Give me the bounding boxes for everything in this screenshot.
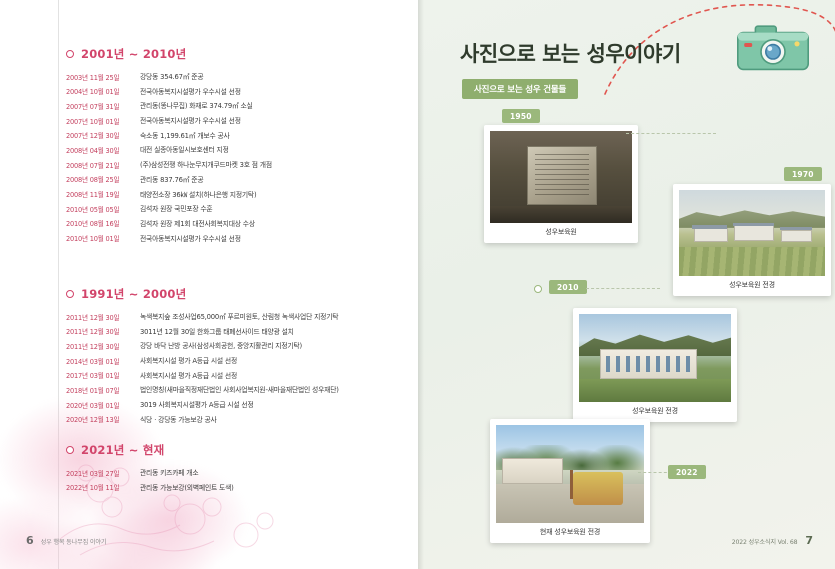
timeline-row: 2008년 11월 19일태양전소장 36㎾ 설치(하나은행 지정기탁) xyxy=(66,189,272,200)
timeline-rows: 2011년 12월 30일녹색복지숲 조성사업65,000㎡ 푸르미원토, 산림… xyxy=(66,311,339,424)
timeline-rows: 2021년 03월 27일관리동 키즈카페 개소 2022년 10월 11일관리… xyxy=(66,467,234,492)
row-date: 2008년 11월 19일 xyxy=(66,189,140,200)
photo-caption: 현재 성우보육원 전경 xyxy=(496,523,644,540)
row-date: 2017년 03월 01일 xyxy=(66,370,140,381)
row-date: 2003년 11월 25일 xyxy=(66,71,140,82)
timeline-row: 2007년 10월 01일전국아동복지시설평가 우수시설 선정 xyxy=(66,115,272,126)
row-date: 2004년 10월 01일 xyxy=(66,86,140,97)
connector-line xyxy=(586,288,660,289)
timeline-row: 2010년 05월 05일김석자 원장 국민포장 수훈 xyxy=(66,203,272,214)
row-text: 3019 사회복지시설평가 A등급 시설 선정 xyxy=(140,399,254,409)
row-date: 2021년 03월 27일 xyxy=(66,467,140,478)
timeline-row: 2007년 07월 31일관리동(똥나무집) 화재로 374.79㎡ 소실 xyxy=(66,100,272,111)
timeline-row: 2010년 10월 01일전국아동복지시설평가 우수시설 선정 xyxy=(66,233,272,244)
section-title: 2021년 ~ 현재 xyxy=(81,442,164,458)
row-date: 2014년 03월 01일 xyxy=(66,355,140,366)
section-header: 2001년 ~ 2010년 xyxy=(66,46,272,62)
bullet-icon xyxy=(66,446,74,454)
year-tag-2010: 2010 xyxy=(549,280,587,294)
row-date: 2010년 05월 05일 xyxy=(66,203,140,214)
row-text: 사회복지시설 평가 A등급 시설 선정 xyxy=(140,355,237,365)
row-text: (주)삼성전쟁 하나눈무지개쿠드마켓 3호 점 개점 xyxy=(140,159,272,169)
footer-text: 2022 성우소식지 Vol. 68 xyxy=(732,537,798,546)
row-date: 2007년 10월 01일 xyxy=(66,115,140,126)
row-text: 법인명칭(새마을직정재단법인 사회사업복지원-새마을재단법인 성우재단) xyxy=(140,384,339,394)
timeline-row: 2003년 11월 25일강당동 354.67㎡ 준공 xyxy=(66,71,272,82)
row-date: 2011년 12월 30일 xyxy=(66,326,140,337)
timeline-row: 2008년 07월 21일(주)삼성전쟁 하나눈무지개쿠드마켓 3호 점 개점 xyxy=(66,159,272,170)
section-1991-2000: 1991년 ~ 2000년 2011년 12월 30일녹색복지숲 조성사업65,… xyxy=(66,286,339,429)
timeline-row: 2018년 01월 07일법인명칭(새마을직정재단법인 사회사업복지원-새마을재… xyxy=(66,384,339,395)
row-text: 대전 실종아동일시보호센터 지정 xyxy=(140,144,229,154)
photo-image xyxy=(679,190,825,276)
timeline-dot-2010 xyxy=(534,285,542,293)
timeline-row: 2004년 10월 01일전국아동복지시설평가 우수시설 선정 xyxy=(66,86,272,97)
timeline-row: 2022년 10월 11일관리동 가능보강(외벽페인트 도색) xyxy=(66,482,234,493)
photo-image xyxy=(579,314,731,402)
row-text: 강당동 354.67㎡ 준공 xyxy=(140,71,203,81)
page-title: 사진으로 보는 성우이야기 xyxy=(460,38,681,68)
row-text: 관리동 가능보강(외벽페인트 도색) xyxy=(140,482,234,492)
timeline-row: 2021년 03월 27일관리동 키즈카페 개소 xyxy=(66,467,234,478)
row-date: 2007년 07월 31일 xyxy=(66,100,140,111)
row-text: 강당 바닥 난방 공사(삼성사회공헌, 중앙지활관리 지정기탁) xyxy=(140,340,302,350)
footer-text: 성우 행복 동나무집 이야기 xyxy=(41,537,107,546)
row-text: 녹색복지숲 조성사업65,000㎡ 푸르미원토, 산림청 녹색사업단 지정기탁 xyxy=(140,311,338,321)
row-date: 2020년 12월 13일 xyxy=(66,414,140,425)
timeline-row: 2008년 08월 25일관리동 837.76㎡ 준공 xyxy=(66,174,272,185)
row-date: 2011년 12월 30일 xyxy=(66,340,140,351)
photo-caption: 성우보육원 전경 xyxy=(679,276,825,293)
row-date: 2008년 07월 21일 xyxy=(66,159,140,170)
row-date: 2018년 01월 07일 xyxy=(66,384,140,395)
timeline-row: 2020년 12월 13일식당ㆍ강당동 가능보강 공사 xyxy=(66,414,339,425)
photo-caption: 성우보육원 전경 xyxy=(579,402,731,419)
timeline-row: 2020년 03월 01일3019 사회복지시설평가 A등급 시설 선정 xyxy=(66,399,339,410)
row-date: 2020년 03월 01일 xyxy=(66,399,140,410)
connector-line xyxy=(638,472,672,473)
year-tag-1970: 1970 xyxy=(784,167,822,181)
timeline-row: 2011년 12월 30일3011년 12월 30일 한화그룹 태폐선사이드 태… xyxy=(66,326,339,337)
row-text: 전국아동복지시설평가 우수시설 선정 xyxy=(140,115,241,125)
section-2021-present: 2021년 ~ 현재 2021년 03월 27일관리동 키즈카페 개소 2022… xyxy=(66,442,234,496)
row-text: 전국아동복지시설평가 우수시설 선정 xyxy=(140,86,241,96)
photo-caption: 성우보육원 xyxy=(490,223,632,240)
row-date: 2010년 10월 01일 xyxy=(66,233,140,244)
row-text: 3011년 12월 30일 한화그룹 태폐선사이드 태양광 설치 xyxy=(140,326,294,336)
timeline-row: 2011년 12월 30일녹색복지숲 조성사업65,000㎡ 푸르미원토, 산림… xyxy=(66,311,339,322)
photo-card-1970[interactable]: 성우보육원 전경 xyxy=(673,184,831,296)
bullet-icon xyxy=(66,50,74,58)
row-date: 2008년 08월 25일 xyxy=(66,174,140,185)
row-text: 관리동 837.76㎡ 준공 xyxy=(140,174,203,184)
row-text: 식당ㆍ강당동 가능보강 공사 xyxy=(140,414,217,424)
row-text: 사회복지시설 평가 A등급 시설 선정 xyxy=(140,370,237,380)
row-date: 2011년 12월 30일 xyxy=(66,311,140,322)
row-text: 전국아동복지시설평가 우수시설 선정 xyxy=(140,233,241,243)
section-title: 2001년 ~ 2010년 xyxy=(81,46,186,62)
timeline-rows: 2003년 11월 25일강당동 354.67㎡ 준공 2004년 10월 01… xyxy=(66,71,272,243)
section-2001-2010: 2001년 ~ 2010년 2003년 11월 25일강당동 354.67㎡ 준… xyxy=(66,46,272,247)
row-text: 김석자 원장 제1회 대전사회복지대상 수상 xyxy=(140,218,255,228)
row-date: 2022년 10월 11일 xyxy=(66,482,140,493)
timeline-row: 2014년 03월 01일사회복지시설 평가 A등급 시설 선정 xyxy=(66,355,339,366)
timeline-row: 2008년 04월 30일대전 실종아동일시보호센터 지정 xyxy=(66,144,272,155)
row-date: 2007년 12월 30일 xyxy=(66,130,140,141)
row-text: 태양전소장 36㎾ 설치(하나은행 지정기탁) xyxy=(140,189,256,199)
photo-card-2022[interactable]: 현재 성우보육원 전경 xyxy=(490,419,650,543)
timeline-row: 2011년 12월 30일강당 바닥 난방 공사(삼성사회공헌, 중앙지활관리 … xyxy=(66,340,339,351)
row-text: 김석자 원장 국민포장 수훈 xyxy=(140,203,212,213)
page-number: 7 xyxy=(805,534,813,547)
timeline-row: 2017년 03월 01일사회복지시설 평가 A등급 시설 선정 xyxy=(66,370,339,381)
left-footer: 6 성우 행복 동나무집 이야기 xyxy=(26,534,106,547)
row-text: 관리동(똥나무집) 화재로 374.79㎡ 소실 xyxy=(140,100,253,110)
year-tag-1950: 1950 xyxy=(502,109,540,123)
right-page: 사진으로 보는 성우이야기 사진으로 보는 성우 건물들 성우보육원 1950 xyxy=(418,0,835,569)
magazine-spread: 2001년 ~ 2010년 2003년 11월 25일강당동 354.67㎡ 준… xyxy=(0,0,835,569)
page-number: 6 xyxy=(26,534,34,547)
right-footer: 2022 성우소식지 Vol. 68 7 xyxy=(732,534,813,547)
row-date: 2010년 08월 16일 xyxy=(66,218,140,229)
photo-image xyxy=(490,131,632,223)
section-title: 1991년 ~ 2000년 xyxy=(81,286,186,302)
row-text: 숙소동 1,199.61㎡ 개보수 공사 xyxy=(140,130,230,140)
left-page: 2001년 ~ 2010년 2003년 11월 25일강당동 354.67㎡ 준… xyxy=(0,0,418,569)
row-date: 2008년 04월 30일 xyxy=(66,144,140,155)
connector-line xyxy=(626,133,716,134)
left-margin-rule xyxy=(58,0,59,569)
bullet-icon xyxy=(66,290,74,298)
photo-card-1950[interactable]: 성우보육원 xyxy=(484,125,638,243)
section-header: 1991년 ~ 2000년 xyxy=(66,286,339,302)
photo-image xyxy=(496,425,644,523)
year-tag-2022: 2022 xyxy=(668,465,706,479)
camera-icon xyxy=(733,18,813,76)
section-header: 2021년 ~ 현재 xyxy=(66,442,234,458)
section-badge: 사진으로 보는 성우 건물들 xyxy=(462,79,578,99)
timeline-row: 2010년 08월 16일김석자 원장 제1회 대전사회복지대상 수상 xyxy=(66,218,272,229)
timeline-row: 2007년 12월 30일숙소동 1,199.61㎡ 개보수 공사 xyxy=(66,130,272,141)
row-text: 관리동 키즈카페 개소 xyxy=(140,467,198,477)
photo-card-2010[interactable]: 성우보육원 전경 xyxy=(573,308,737,422)
